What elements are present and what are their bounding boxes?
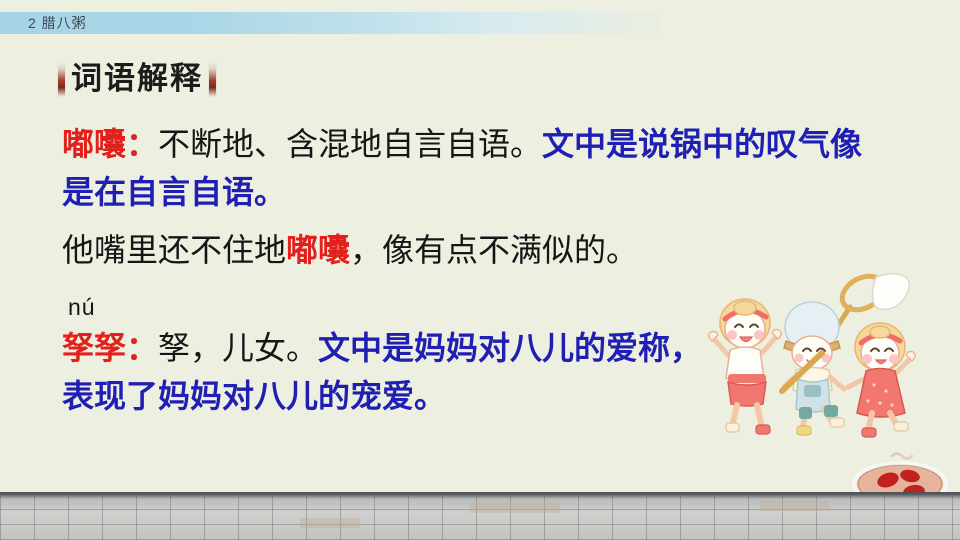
lesson-title: 2 腊八粥: [28, 13, 87, 33]
entry-duonang-example-line: 他嘴里还不住地嘟囔，像有点不满似的。: [62, 226, 762, 274]
section-title-group: 词语解释: [58, 62, 216, 96]
stone-pavement-strip: [0, 492, 960, 540]
entry-duonang-definition-line: 嘟囔：不断地、含混地自言自语。文中是说锅中的叹气像是在自言自语。: [62, 120, 888, 216]
header-bar: [0, 12, 660, 34]
keyword-duonang: 嘟囔: [62, 125, 126, 163]
keyword-duonang-colon: ：: [126, 125, 158, 163]
children-svg: [700, 255, 930, 455]
stone-patch: [300, 518, 360, 528]
stone-patch: [760, 501, 830, 511]
slide-canvas: 2 腊八粥 词语解释 嘟囔：不断地、含混地自言自语。文中是说锅中的叹气像是在自言…: [0, 0, 960, 540]
entry-nunu-definition-line: 孥孥：孥，儿女。文中是妈妈对八儿的爱称，表现了妈妈对八儿的宠爱。: [62, 324, 722, 420]
example-duonang-pre: 他嘴里还不住地: [62, 231, 286, 269]
section-title: 词语解释: [71, 62, 203, 96]
example-duonang-keyword: 嘟囔: [286, 231, 350, 269]
entry-duonang-definition: 不断地、含混地自言自语。: [158, 125, 542, 163]
example-duonang-post: ，像有点不满似的。: [350, 231, 638, 269]
stone-patch: [470, 502, 560, 513]
child-middle-boy: [782, 302, 844, 435]
keyword-nunu: 孥孥: [62, 329, 126, 367]
child-left-girl: [709, 299, 782, 434]
keyword-nunu-colon: ：: [126, 329, 158, 367]
three-children-illustration: [700, 255, 930, 455]
title-mark-left-icon: [58, 62, 65, 96]
entry-nunu-definition: 孥，儿女。: [158, 329, 318, 367]
title-mark-right-icon: [209, 62, 216, 96]
child-right-girl: [848, 323, 915, 437]
